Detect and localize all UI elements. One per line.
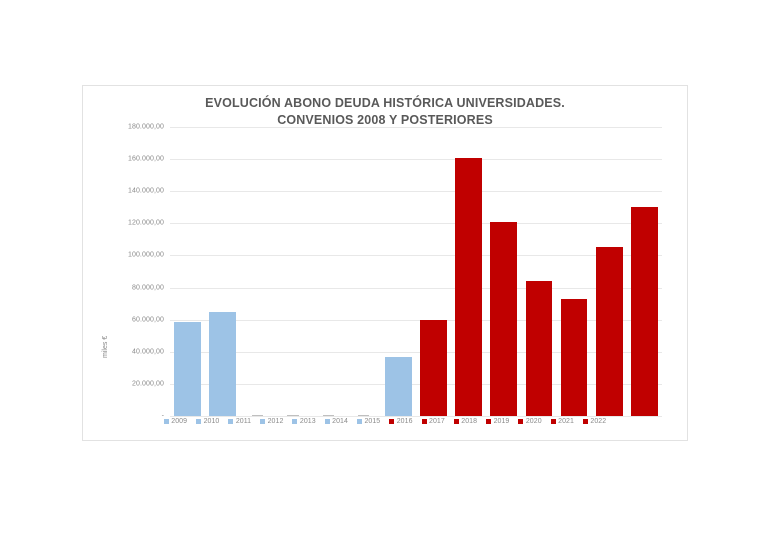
legend-item-2021[interactable]: 2021 [551, 418, 574, 425]
legend-label: 2017 [429, 418, 445, 425]
bar-2016[interactable] [420, 320, 447, 416]
bar-slot-2016 [416, 127, 451, 416]
y-axis-tick-label: 60.000,00 [132, 316, 164, 323]
legend-label: 2011 [236, 418, 251, 425]
legend-item-2013[interactable]: 2013 [292, 418, 315, 425]
chart-title-line-1: EVOLUCIÓN ABONO DEUDA HISTÓRICA UNIVERSI… [83, 95, 687, 112]
bar-slot-2017 [451, 127, 486, 416]
legend-item-2019[interactable]: 2019 [486, 418, 509, 425]
legend-swatch-icon [196, 419, 201, 424]
legend-swatch-icon [325, 419, 330, 424]
bar-2013[interactable] [323, 415, 334, 416]
legend-swatch-icon [228, 419, 233, 424]
legend-label: 2009 [171, 418, 187, 425]
y-axis-tick-label: 40.000,00 [132, 348, 164, 355]
legend-label: 2013 [300, 418, 316, 425]
chart-legend: 2009201020112012201320142015201620172018… [83, 418, 687, 425]
bar-slot-2019 [521, 127, 556, 416]
bar-slot-2013 [311, 127, 346, 416]
legend-swatch-icon [583, 419, 588, 424]
bar-2009[interactable] [174, 322, 201, 416]
legend-item-2009[interactable]: 2009 [164, 418, 187, 425]
legend-swatch-icon [551, 419, 556, 424]
legend-swatch-icon [518, 419, 523, 424]
bar-2021[interactable] [596, 247, 623, 416]
bar-2017[interactable] [455, 158, 482, 416]
legend-item-2017[interactable]: 2017 [422, 418, 445, 425]
legend-label: 2010 [204, 418, 220, 425]
bar-slot-2021 [592, 127, 627, 416]
bar-slot-2012 [275, 127, 310, 416]
legend-label: 2022 [590, 418, 606, 425]
legend-item-2022[interactable]: 2022 [583, 418, 606, 425]
bar-2010[interactable] [209, 312, 236, 416]
plot-area: 180.000,00160.000,00140.000,00120.000,00… [170, 127, 662, 416]
legend-swatch-icon [422, 419, 427, 424]
y-axis-tick-label: 100.000,00 [128, 252, 164, 259]
legend-label: 2012 [268, 418, 284, 425]
legend-swatch-icon [454, 419, 459, 424]
legend-label: 2016 [397, 418, 413, 425]
bar-2014[interactable] [358, 415, 369, 416]
legend-swatch-icon [486, 419, 491, 424]
y-axis-tick-label: 180.000,00 [128, 124, 164, 131]
chart-container: EVOLUCIÓN ABONO DEUDA HISTÓRICA UNIVERSI… [82, 85, 688, 441]
bar-slot-2022 [627, 127, 662, 416]
legend-label: 2015 [364, 418, 380, 425]
legend-swatch-icon [389, 419, 394, 424]
legend-item-2020[interactable]: 2020 [518, 418, 541, 425]
y-axis-tick-label: 160.000,00 [128, 156, 164, 163]
bar-slot-2010 [205, 127, 240, 416]
legend-swatch-icon [292, 419, 297, 424]
legend-item-2016[interactable]: 2016 [389, 418, 412, 425]
bars-layer [170, 127, 662, 416]
legend-label: 2019 [494, 418, 510, 425]
gridline [170, 416, 662, 417]
legend-label: 2021 [558, 418, 574, 425]
y-axis-tick-label: 140.000,00 [128, 188, 164, 195]
bar-2015[interactable] [385, 357, 412, 416]
legend-item-2018[interactable]: 2018 [454, 418, 477, 425]
bar-slot-2015 [381, 127, 416, 416]
legend-swatch-icon [164, 419, 169, 424]
chart-title: EVOLUCIÓN ABONO DEUDA HISTÓRICA UNIVERSI… [83, 95, 687, 129]
legend-item-2010[interactable]: 2010 [196, 418, 219, 425]
bar-slot-2018 [486, 127, 521, 416]
bar-2018[interactable] [490, 222, 517, 416]
legend-label: 2018 [461, 418, 477, 425]
legend-item-2014[interactable]: 2014 [325, 418, 348, 425]
legend-label: 2014 [332, 418, 348, 425]
legend-item-2011[interactable]: 2011 [228, 418, 251, 425]
bar-slot-2011 [240, 127, 275, 416]
bar-slot-2020 [557, 127, 592, 416]
bar-slot-2009 [170, 127, 205, 416]
y-axis-tick-label: 120.000,00 [128, 220, 164, 227]
bar-slot-2014 [346, 127, 381, 416]
legend-item-2015[interactable]: 2015 [357, 418, 380, 425]
bar-2012[interactable] [287, 415, 298, 416]
legend-swatch-icon [357, 419, 362, 424]
bar-2022[interactable] [631, 207, 658, 416]
bar-2020[interactable] [561, 299, 588, 416]
bar-2019[interactable] [526, 281, 553, 416]
bar-2011[interactable] [252, 415, 263, 416]
legend-swatch-icon [260, 419, 265, 424]
y-axis-tick-label: 20.000,00 [132, 380, 164, 387]
legend-item-2012[interactable]: 2012 [260, 418, 283, 425]
y-axis-tick-label: 80.000,00 [132, 284, 164, 291]
legend-label: 2020 [526, 418, 542, 425]
y-axis-title: miles € [102, 336, 109, 358]
